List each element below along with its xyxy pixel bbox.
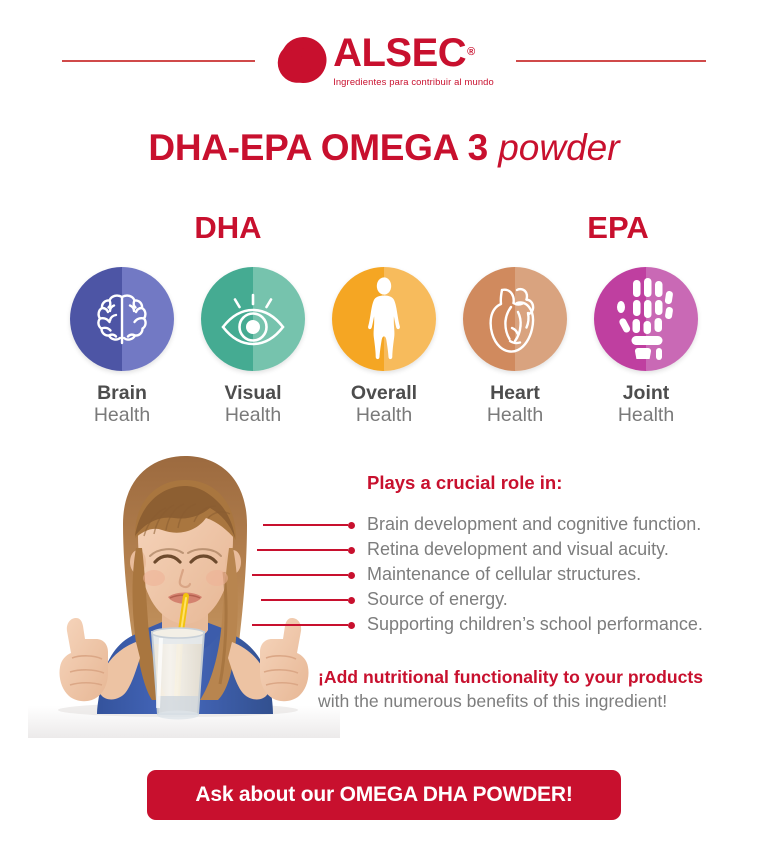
- leader-line: [263, 524, 348, 526]
- benefit-label-heart: Heart Health: [463, 383, 567, 427]
- list-item: Retina development and visual acuity.: [252, 538, 752, 563]
- brand-name-wrap: ALSEC ®: [333, 33, 475, 73]
- benefit-icon-joint[interactable]: [594, 267, 698, 371]
- brain-circle: [70, 267, 174, 371]
- list-item: Source of energy.: [252, 588, 752, 613]
- bullet-dot: [348, 547, 355, 554]
- heart-circle: [463, 267, 567, 371]
- list-item: Brain development and cognitive function…: [252, 513, 752, 538]
- list-item-text: Retina development and visual acuity.: [367, 537, 669, 562]
- benefit-sub-overall: Health: [332, 405, 436, 427]
- brand-name: ALSEC: [333, 33, 466, 73]
- brand-tagline: Ingredientes para contribuir al mundo: [333, 76, 494, 87]
- benefit-icon-row: [0, 267, 768, 371]
- ask-about-powder-button[interactable]: Ask about our OMEGA DHA POWDER!: [147, 770, 621, 820]
- heart-icon: [482, 281, 548, 357]
- benefit-name-overall: Overall: [332, 383, 436, 405]
- bullet-dot: [348, 622, 355, 629]
- bullet-dot: [348, 572, 355, 579]
- list-item: Supporting children’s school performance…: [252, 613, 752, 638]
- header-rule-left: [62, 60, 255, 62]
- benefit-label-joint: Joint Health: [594, 383, 698, 427]
- list-heading: Plays a crucial role in:: [367, 472, 562, 494]
- benefit-icon-overall[interactable]: [332, 267, 436, 371]
- benefit-sub-visual: Health: [201, 405, 305, 427]
- brand-logo[interactable]: ALSEC ® Ingredientes para contribuir al …: [277, 33, 494, 87]
- list-item-text: Supporting children’s school performance…: [367, 612, 703, 637]
- joint-circle: [594, 267, 698, 371]
- cta-text-block: ¡Add nutritional functionality to your p…: [318, 666, 758, 714]
- list-item-text: Source of energy.: [367, 587, 508, 612]
- page-title-accent: powder: [498, 127, 619, 168]
- list-item-text: Brain development and cognitive function…: [367, 512, 701, 537]
- alsec-spiral-logo-icon: [277, 34, 329, 86]
- leader-line: [252, 624, 348, 626]
- bullet-dot: [348, 597, 355, 604]
- cta-bold-line: ¡Add nutritional functionality to your p…: [318, 666, 758, 690]
- eye-icon: [215, 284, 291, 354]
- page-title: DHA-EPA OMEGA 3 powder: [0, 126, 768, 170]
- joint-icon: [612, 277, 680, 361]
- list-item-text: Maintenance of cellular structures.: [367, 562, 641, 587]
- header-rule-right: [516, 60, 706, 62]
- page-title-main: DHA-EPA OMEGA 3: [148, 127, 488, 168]
- group-label-epa: EPA: [538, 210, 698, 246]
- bullet-dot: [348, 522, 355, 529]
- benefit-icon-brain[interactable]: [70, 267, 174, 371]
- header: ALSEC ® Ingredientes para contribuir al …: [0, 26, 768, 94]
- benefit-name-joint: Joint: [594, 383, 698, 405]
- benefit-name-heart: Heart: [463, 383, 567, 405]
- infographic-page: ALSEC ® Ingredientes para contribuir al …: [0, 0, 768, 864]
- benefit-label-overall: Overall Health: [332, 383, 436, 427]
- leader-line: [261, 599, 348, 601]
- benefit-label-brain: Brain Health: [70, 383, 174, 427]
- leader-line: [257, 549, 348, 551]
- benefit-sub-joint: Health: [594, 405, 698, 427]
- benefit-sub-heart: Health: [463, 405, 567, 427]
- group-label-dha: DHA: [148, 210, 308, 246]
- eye-circle: [201, 267, 305, 371]
- registered-mark: ®: [467, 47, 475, 58]
- benefit-name-brain: Brain: [70, 383, 174, 405]
- benefit-name-visual: Visual: [201, 383, 305, 405]
- benefit-bullet-list: Brain development and cognitive function…: [252, 513, 752, 638]
- leader-line: [252, 574, 348, 576]
- benefit-icon-heart[interactable]: [463, 267, 567, 371]
- benefit-label-visual: Visual Health: [201, 383, 305, 427]
- brain-icon: [88, 285, 156, 353]
- benefit-icon-visual[interactable]: [201, 267, 305, 371]
- list-item: Maintenance of cellular structures.: [252, 563, 752, 588]
- body-icon: [359, 276, 409, 362]
- benefit-sub-brain: Health: [70, 405, 174, 427]
- body-circle: [332, 267, 436, 371]
- cta-sub-line: with the numerous benefits of this ingre…: [318, 690, 758, 714]
- benefit-label-row: Brain Health Visual Health Overall Healt…: [0, 383, 768, 427]
